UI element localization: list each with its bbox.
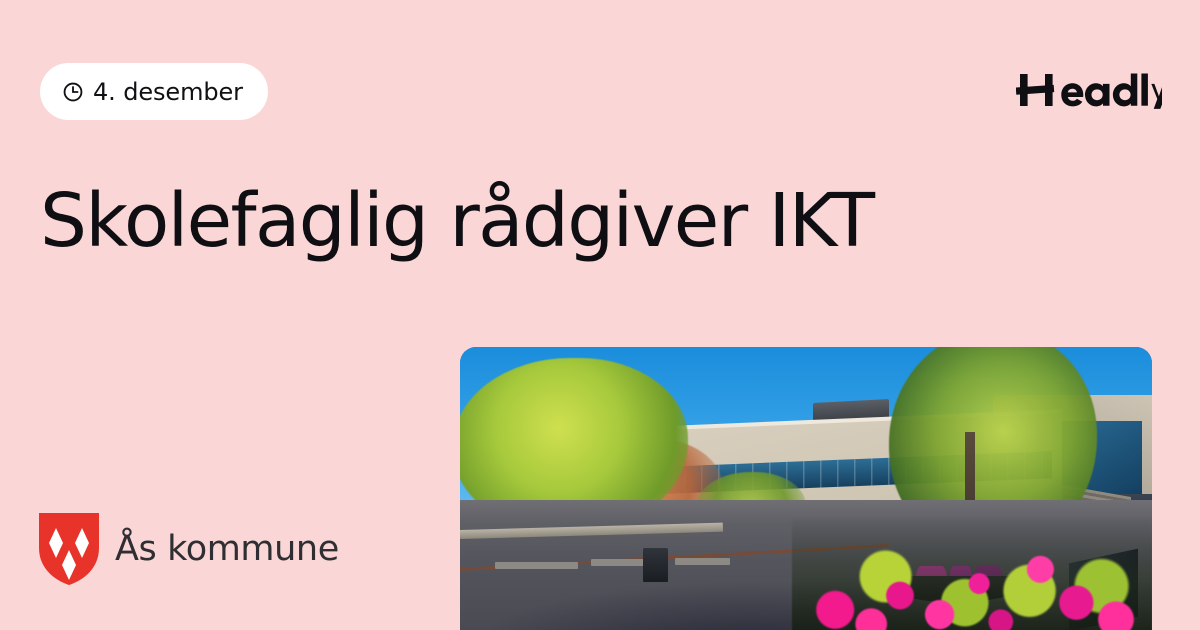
bench (495, 562, 578, 569)
article-image: ÅS KULTURHUS (460, 347, 1152, 630)
date-label: 4. desember (93, 78, 243, 106)
bench (675, 558, 730, 565)
clock-icon (62, 81, 84, 103)
foreground-flowers (792, 517, 1152, 630)
as-kommune-shield-icon (38, 512, 100, 586)
organization-name: Ås kommune (115, 529, 339, 569)
headly-logo[interactable] (1016, 62, 1162, 118)
date-badge: 4. desember (40, 63, 268, 120)
page-title: Skolefaglig rådgiver IKT (40, 183, 1060, 260)
image-content: ÅS KULTURHUS (460, 347, 1152, 630)
organization-logo: Ås kommune (38, 512, 339, 586)
trash-bin (643, 548, 668, 582)
share-card: 4. desember Skolefaglig rådgive (0, 0, 1200, 630)
